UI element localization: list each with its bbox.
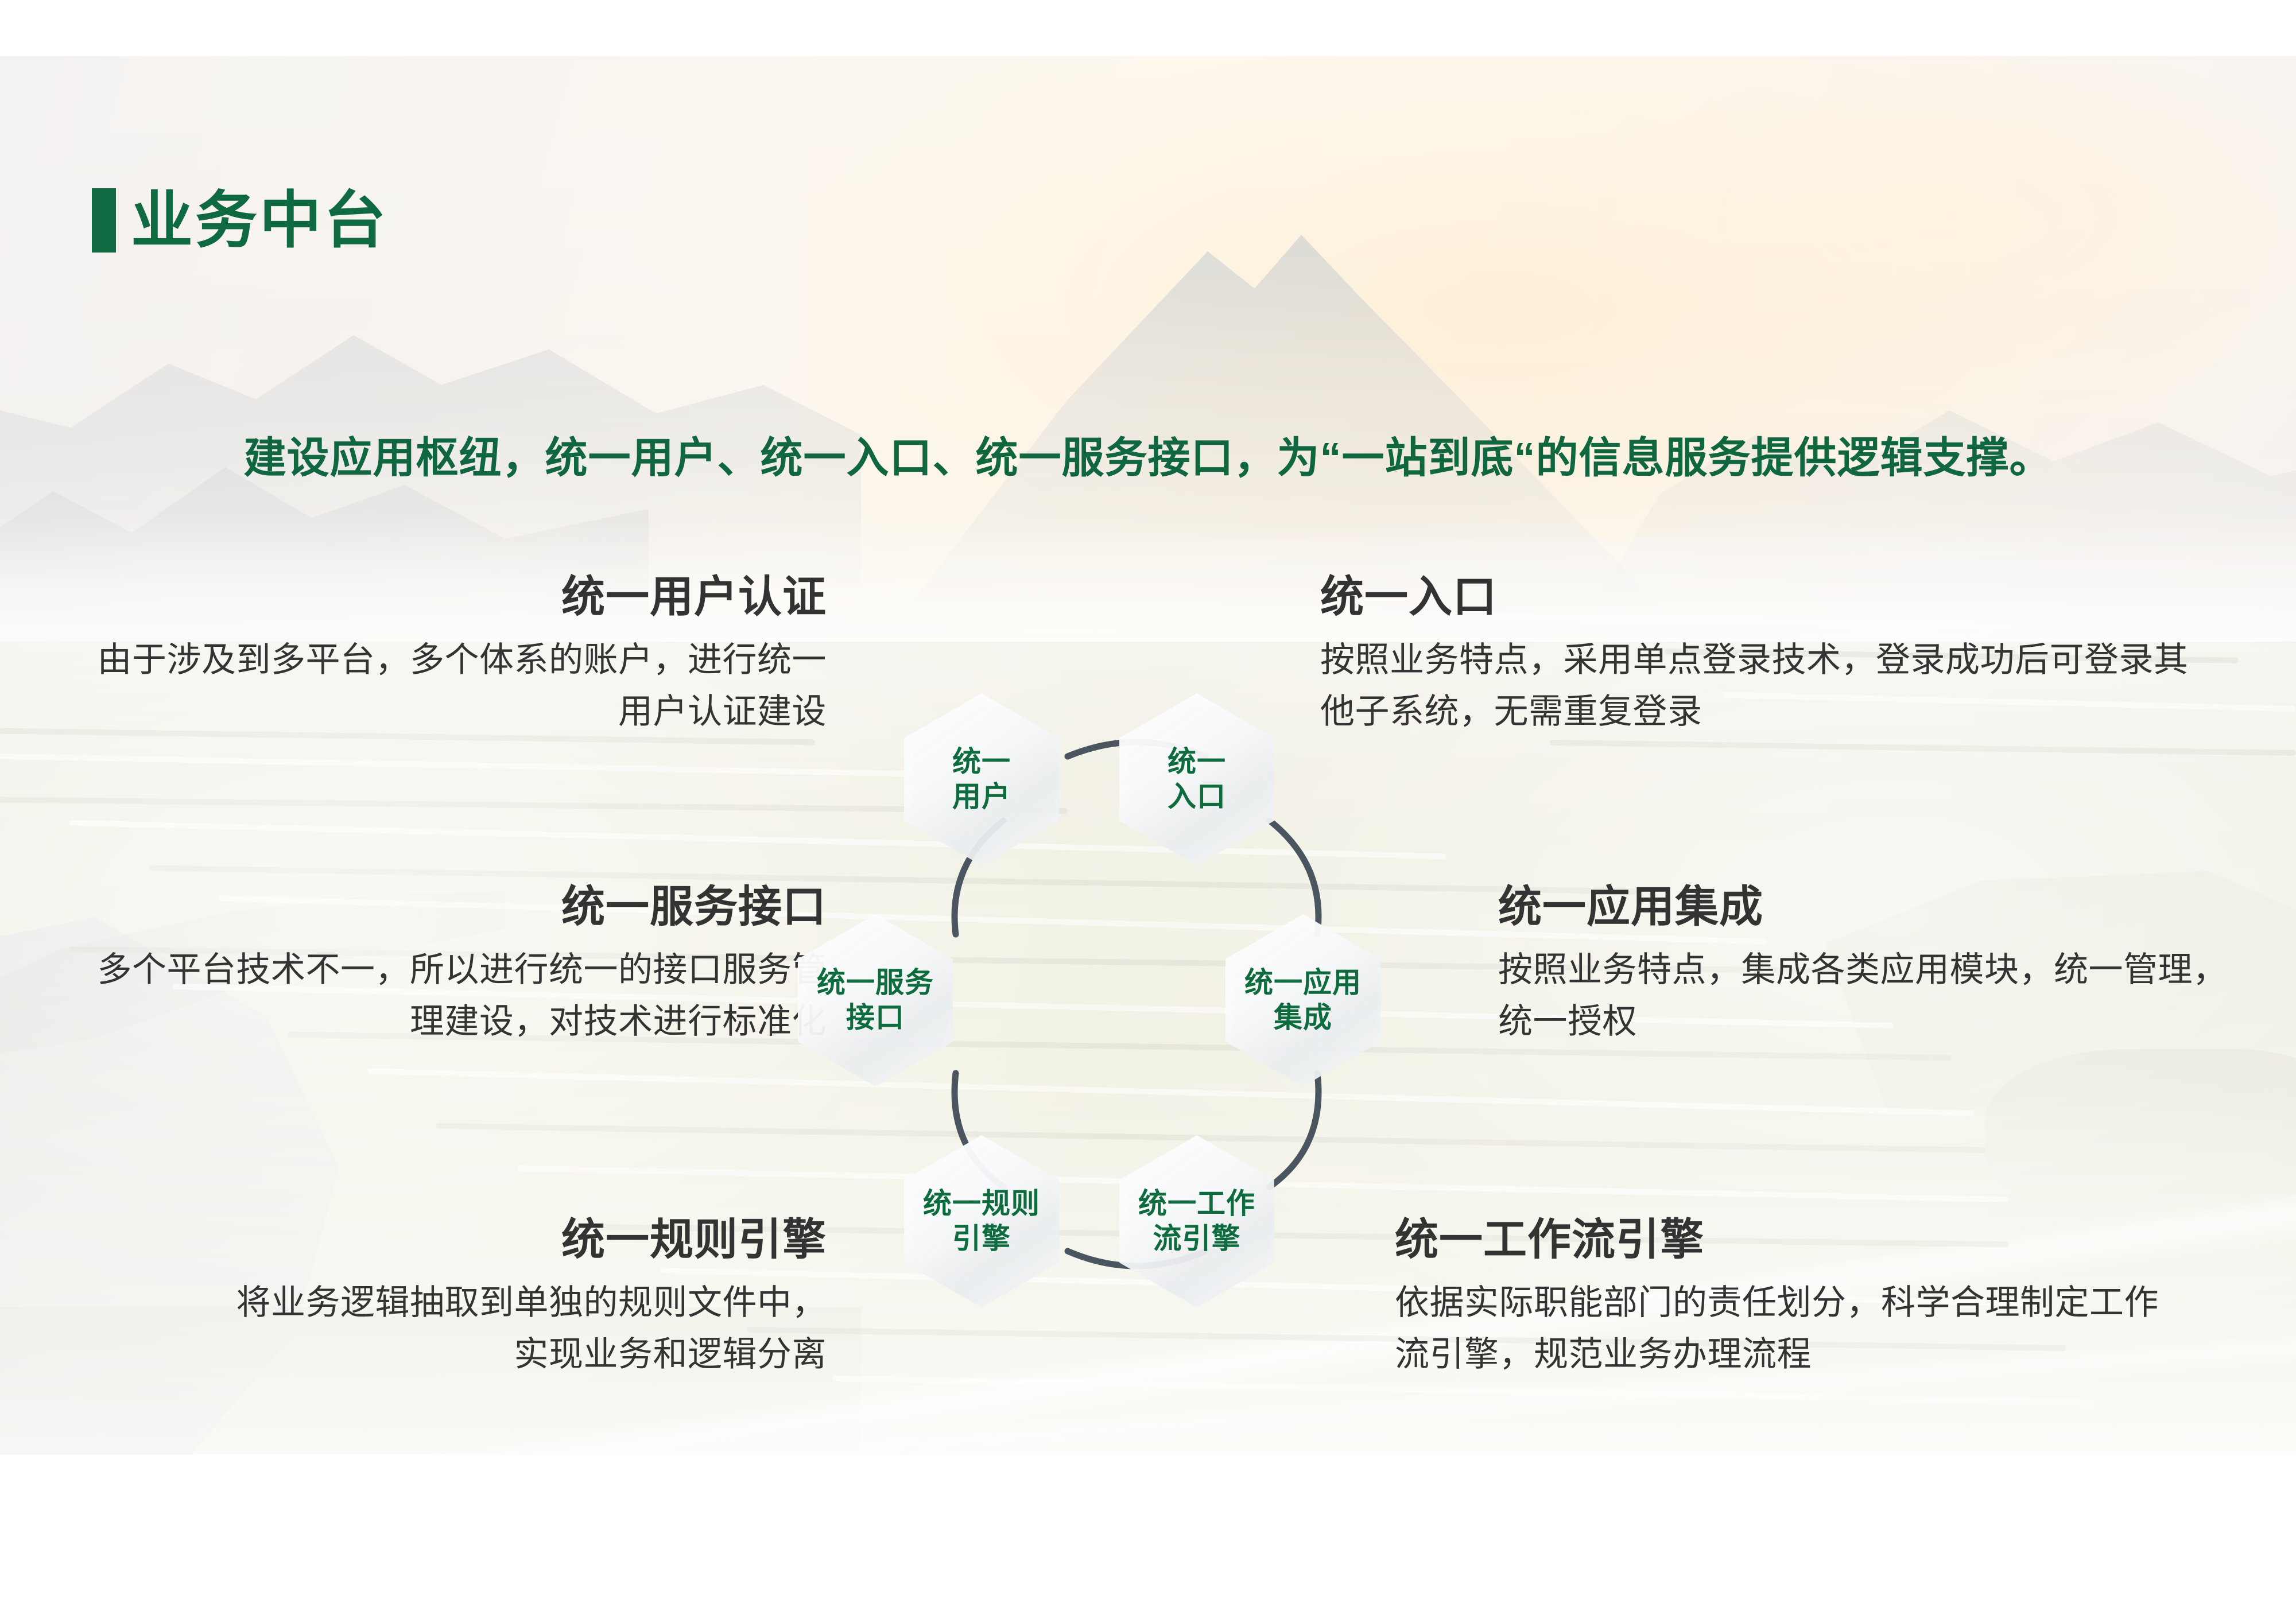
block-body: 按照业务特点，集成各类应用模块，统一管理，统一授权 [1498,944,2244,1047]
block-body: 依据实际职能部门的责任划分，科学合理制定工作流引擎，规范业务办理流程 [1395,1277,2187,1380]
hex-label-line1: 统一 [952,744,1011,779]
block-heading: 统一用户认证 [69,573,827,622]
page-title-group: 业务中台 [92,188,388,253]
page-subtitle: 建设应用枢纽，统一用户、统一入口、统一服务接口，为“一站到底“的信息服务提供逻辑… [0,424,2296,485]
block-body: 由于涉及到多平台，多个体系的账户，进行统一用户认证建设 [69,634,827,737]
hex-label-line2: 引擎 [952,1221,1011,1256]
hex-label-line2: 用户 [952,779,1011,814]
slide-canvas: 业务中台 建设应用枢纽，统一用户、统一入口、统一服务接口，为“一站到底“的信息服… [0,56,2296,1455]
hexagon-ring-diagram: 统一 用户 统一 入口 统一应用 集成 统一工作 流引擎 统一规则 引擎 统一服… [798,688,1475,1319]
hex-label-line1: 统一服务 [817,965,934,1000]
hex-label-line2: 接口 [846,1000,905,1035]
block-unified-workflow-engine: 统一工作流引擎 依据实际职能部门的责任划分，科学合理制定工作流引擎，规范业务办理… [1395,1216,2187,1380]
hex-label-line2: 入口 [1168,779,1226,814]
hex-label-line1: 统一应用 [1244,965,1362,1000]
hex-label-line1: 统一工作 [1138,1186,1255,1221]
hex-label-line2: 流引擎 [1153,1221,1241,1256]
block-unified-app-integration: 统一应用集成 按照业务特点，集成各类应用模块，统一管理，统一授权 [1498,883,2244,1047]
block-heading: 统一服务接口 [69,883,827,931]
arc-entry-to-appint [1270,821,1318,934]
hex-label-line1: 统一规则 [923,1186,1040,1221]
block-unified-user-auth: 统一用户认证 由于涉及到多平台，多个体系的账户，进行统一用户认证建设 [69,573,827,737]
block-heading: 统一应用集成 [1498,883,2244,931]
block-body: 多个平台技术不一，所以进行统一的接口服务管理建设，对技术进行标准化 [69,944,827,1047]
block-heading: 统一入口 [1320,573,2193,622]
hex-label-line2: 集成 [1274,1000,1332,1035]
page-title: 业务中台 [131,189,388,251]
title-accent-bar [92,188,116,253]
block-body: 将业务逻辑抽取到单独的规则文件中，实现业务和逻辑分离 [218,1277,827,1380]
block-heading: 统一工作流引擎 [1395,1216,2187,1264]
block-unified-rule-engine: 统一规则引擎 将业务逻辑抽取到单独的规则文件中，实现业务和逻辑分离 [218,1216,827,1380]
hex-label-line1: 统一 [1168,744,1226,779]
arc-appint-to-workflow [1270,1073,1318,1187]
block-unified-service-interface: 统一服务接口 多个平台技术不一，所以进行统一的接口服务管理建设，对技术进行标准化 [69,883,827,1047]
block-heading: 统一规则引擎 [218,1216,827,1264]
